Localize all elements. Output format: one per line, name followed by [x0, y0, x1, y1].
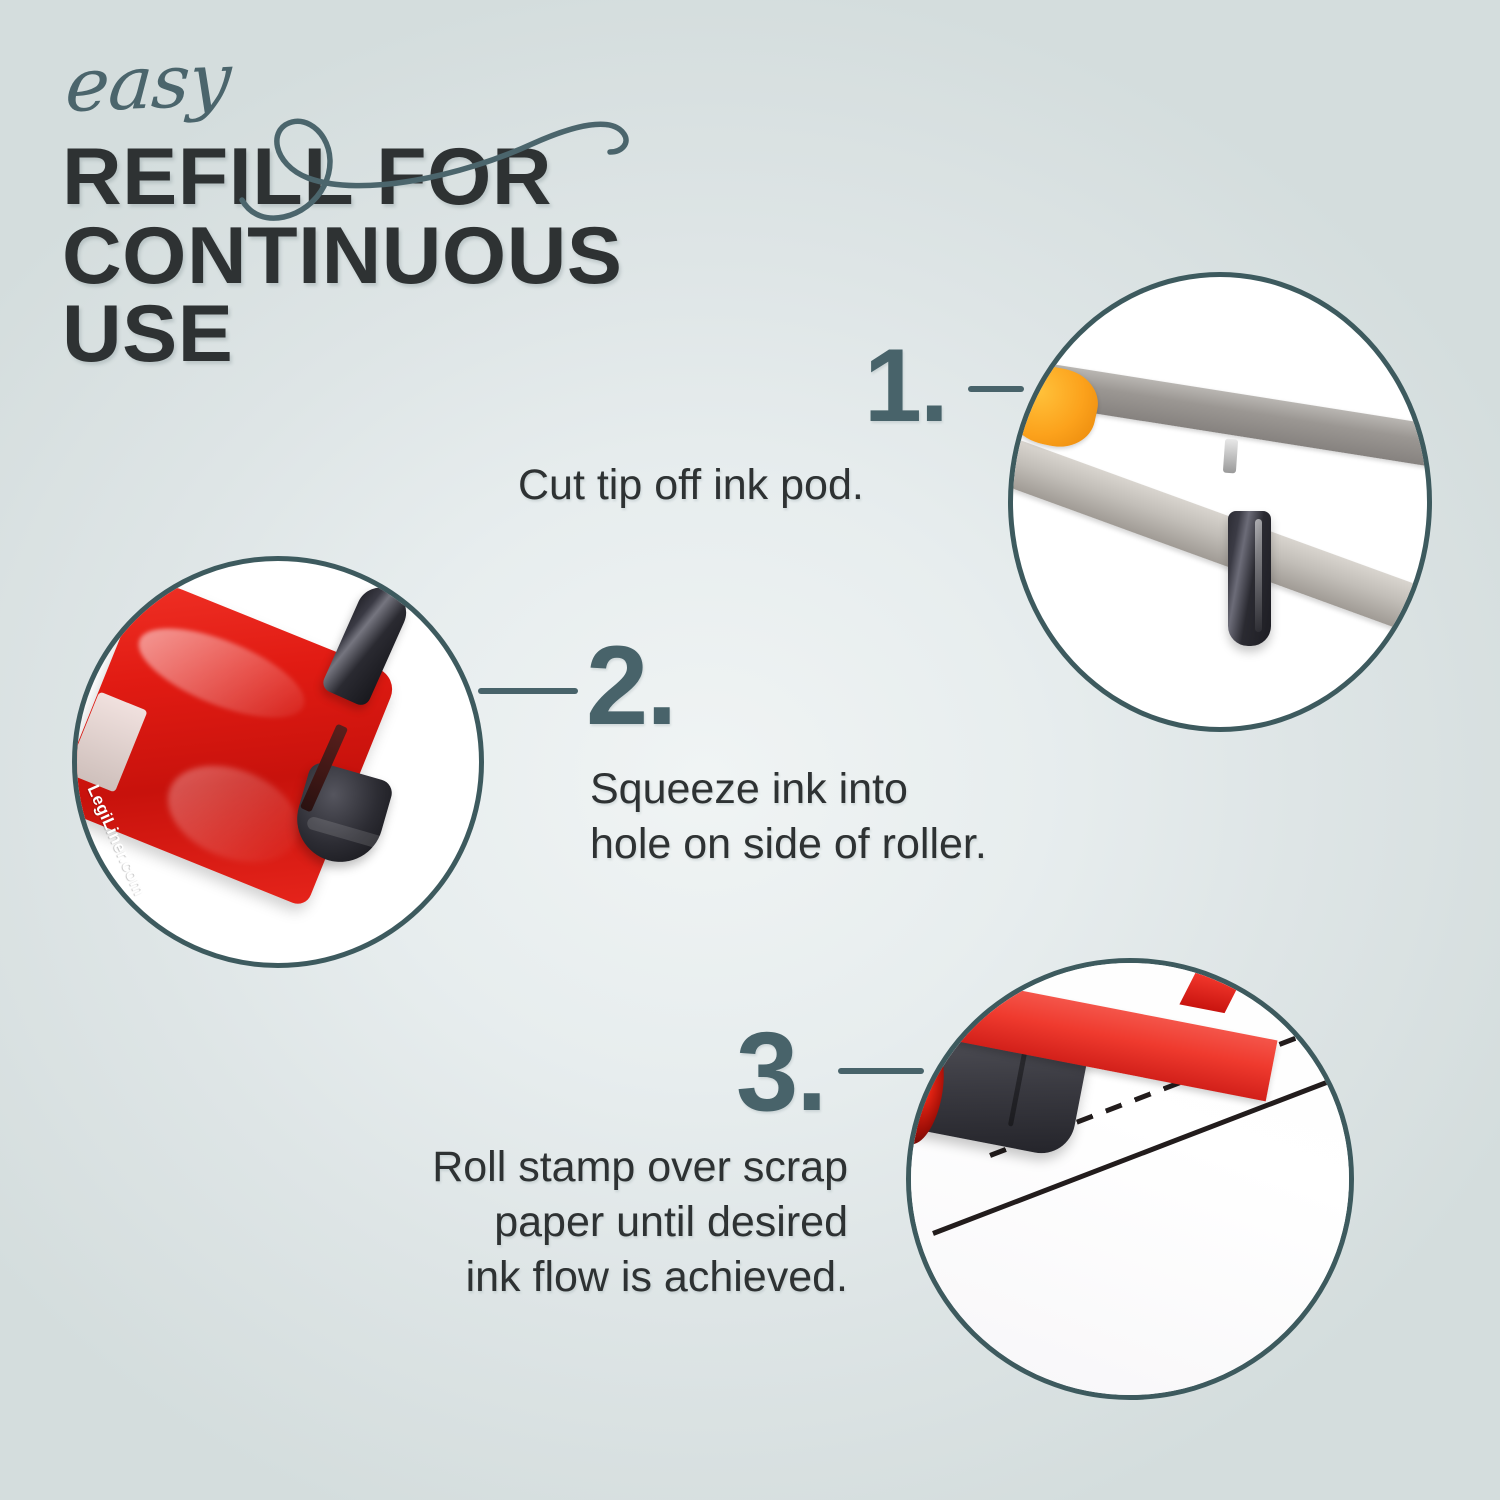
step-3-photo — [906, 958, 1354, 1400]
ink-pod-icon — [1228, 511, 1271, 646]
script-accent-word: easy — [63, 43, 232, 123]
step-1-number: 1. — [864, 340, 947, 434]
step-1-photo — [1008, 272, 1432, 732]
page-title: REFILL FOR CONTINUOUS USE — [62, 138, 622, 374]
infographic-poster: easy REFILL FOR CONTINUOUS USE 1. Cut ti… — [0, 0, 1500, 1500]
step-2-text: Squeeze ink into hole on side of roller. — [590, 762, 987, 872]
step-2-photo: LegiLiner.com — [72, 556, 484, 968]
scissors-blade-lower-icon — [1013, 431, 1427, 652]
step-1-text: Cut tip off ink pod. — [518, 458, 864, 513]
ink-pod-icon — [320, 580, 414, 708]
step-2-number: 2. — [586, 636, 675, 737]
step-3-number: 3. — [736, 1022, 825, 1123]
scissors-pivot-icon — [1223, 439, 1238, 474]
step-1-connector-line — [968, 386, 1024, 392]
step-2-connector-line — [478, 688, 578, 694]
step-3-text: Roll stamp over scrap paper until desire… — [318, 1140, 848, 1305]
step-3-connector-line — [838, 1068, 924, 1074]
